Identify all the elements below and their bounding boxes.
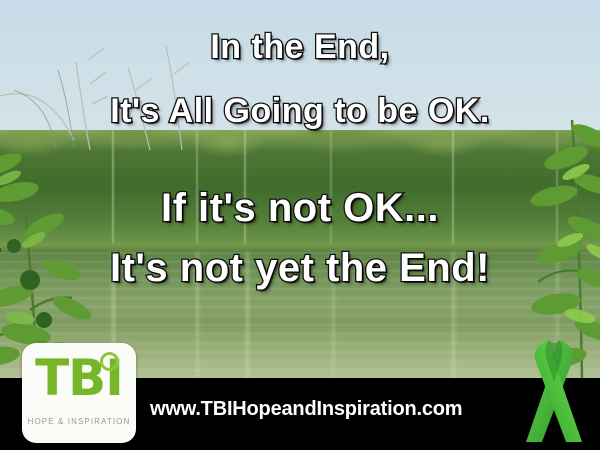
circle-outline-icon — [100, 352, 119, 371]
headline-line-2: It's All Going to be OK. — [0, 92, 600, 131]
headline-line-3: If it's not OK... — [0, 186, 600, 231]
awareness-ribbon-icon — [518, 338, 590, 444]
headline-block: In the End, It's All Going to be OK. If … — [0, 0, 600, 380]
website-url[interactable]: www.TBIHopeandInspiration.com — [150, 398, 462, 421]
headline-line-4: It's not yet the End! — [0, 246, 600, 291]
tbi-logo[interactable]: TBI HOPE & INSPIRATION — [22, 343, 136, 443]
headline-line-1: In the End, — [0, 28, 600, 67]
tbi-logo-tagline: HOPE & INSPIRATION — [22, 417, 136, 426]
poster-image: In the End, It's All Going to be OK. If … — [0, 0, 600, 450]
